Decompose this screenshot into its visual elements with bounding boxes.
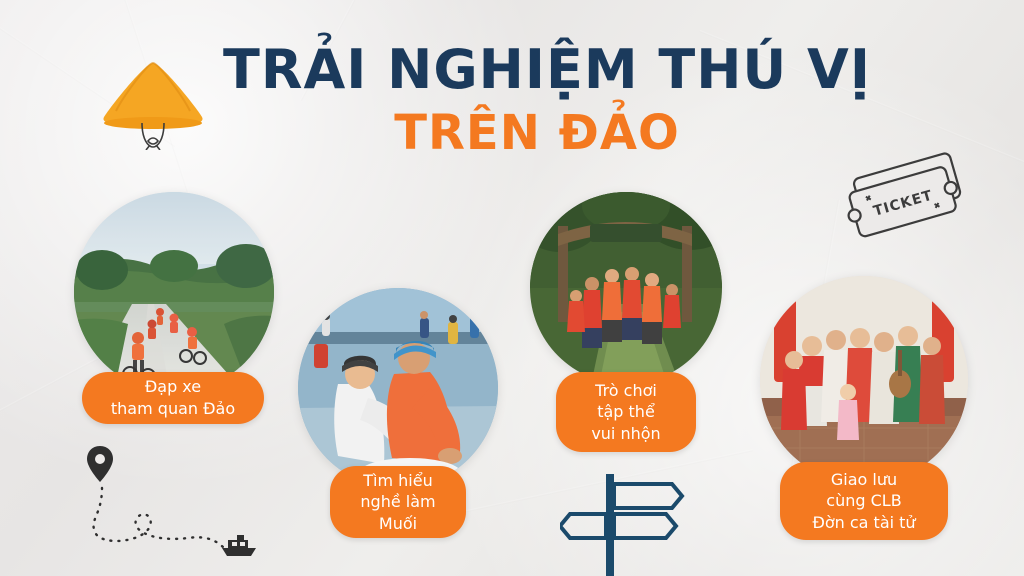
- caption-salt-line-2: nghề làm: [360, 491, 435, 513]
- photo-bike: [74, 192, 274, 392]
- caption-club-line-3: Đờn ca tài tử: [812, 512, 915, 534]
- caption-salt-line-1: Tìm hiểu: [360, 470, 435, 492]
- ticket-icon: TICKET: [838, 152, 973, 251]
- photo-salt: [298, 288, 498, 488]
- photo-club: [760, 276, 968, 484]
- caption-bike: Đạp xe tham quan Đảo: [82, 372, 264, 424]
- caption-club-line-2: cùng CLB: [812, 490, 915, 512]
- signpost-icon: [560, 462, 690, 576]
- caption-club-line-1: Giao lưu: [812, 469, 915, 491]
- caption-games: Trò chơi tập thể vui nhộn: [556, 372, 696, 452]
- slide-canvas: TRẢI NGHIỆM THÚ VỊ TRÊN ĐẢO TICKET: [0, 0, 1024, 576]
- dotted-route-line: [78, 438, 278, 572]
- caption-games-line-3: vui nhộn: [591, 423, 660, 445]
- caption-bike-line-1: Đạp xe: [111, 376, 235, 398]
- caption-games-line-1: Trò chơi: [591, 380, 660, 402]
- map-pin-icon: [87, 446, 113, 482]
- caption-salt-line-3: Muối: [360, 513, 435, 535]
- caption-club: Giao lưu cùng CLB Đờn ca tài tử: [780, 462, 948, 540]
- salt-making-craft-photo: [298, 288, 498, 488]
- cyclists-on-island-road-photo: [74, 192, 274, 392]
- caption-salt: Tìm hiểu nghề làm Muối: [330, 466, 466, 538]
- page-title: TRẢI NGHIỆM THÚ VỊ TRÊN ĐẢO: [0, 42, 1024, 162]
- group-team-games-photo: [530, 192, 722, 384]
- photo-games: [530, 192, 722, 384]
- caption-games-line-2: tập thể: [591, 401, 660, 423]
- don-ca-tai-tu-club-photo: [760, 276, 968, 484]
- boat-icon: [222, 535, 256, 556]
- caption-bike-line-2: tham quan Đảo: [111, 398, 235, 420]
- title-line-primary: TRẢI NGHIỆM THÚ VỊ: [0, 42, 1024, 99]
